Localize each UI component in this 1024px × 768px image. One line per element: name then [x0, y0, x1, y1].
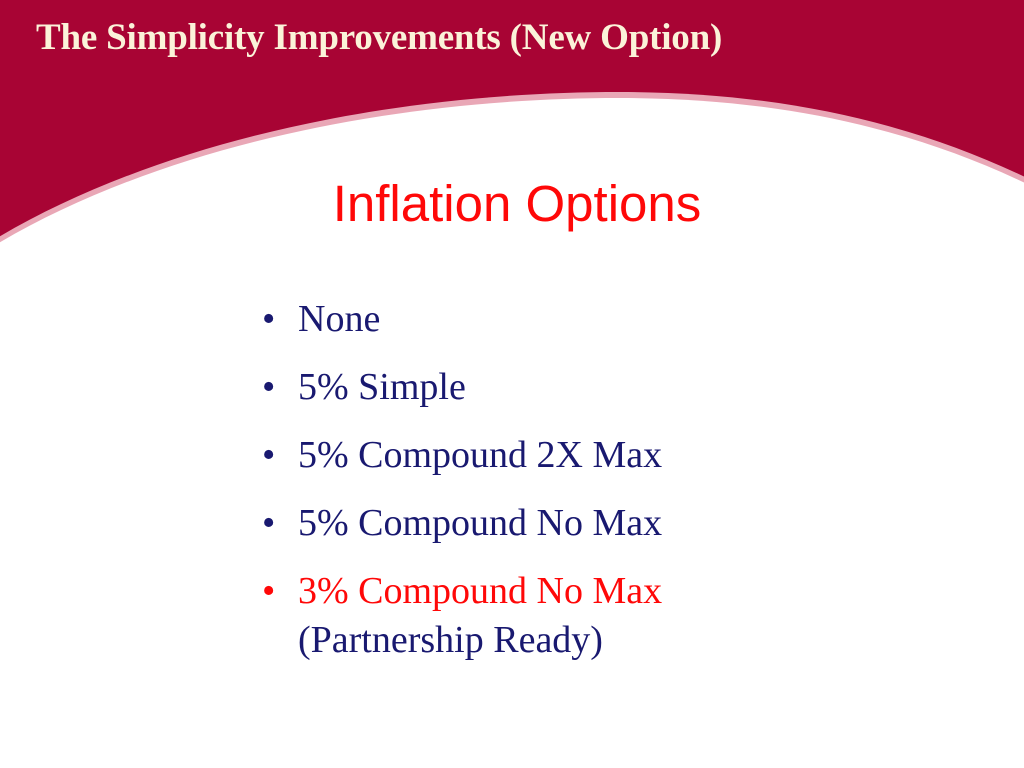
list-item: • None [258, 296, 958, 342]
list-item-label: 5% Compound 2X Max [298, 432, 958, 478]
list-item-highlighted: • 3% Compound No Max (Partnership Ready) [258, 568, 958, 666]
list-item-label: 5% Compound No Max [298, 500, 958, 546]
bullet-point-icon: • [258, 432, 298, 478]
bullet-point-icon: • [258, 296, 298, 342]
list-item-subline: (Partnership Ready) [298, 614, 958, 666]
slide-canvas: The Simplicity Improvements (New Option)… [0, 0, 1024, 768]
list-item-label: 3% Compound No Max [298, 568, 958, 614]
content-heading: Inflation Options [0, 175, 1024, 233]
list-item-label: None [298, 296, 958, 342]
list-item: • 5% Compound 2X Max [258, 432, 958, 478]
bullet-point-icon: • [258, 500, 298, 546]
bullet-list: • None • 5% Simple • 5% Compound 2X Max … [258, 296, 958, 688]
slide-header-title: The Simplicity Improvements (New Option) [36, 16, 996, 60]
list-item-label: 5% Simple [298, 364, 958, 410]
list-item: • 5% Simple [258, 364, 958, 410]
list-item: • 5% Compound No Max [258, 500, 958, 546]
bullet-point-icon: • [258, 364, 298, 410]
bullet-point-icon: • [258, 568, 298, 614]
